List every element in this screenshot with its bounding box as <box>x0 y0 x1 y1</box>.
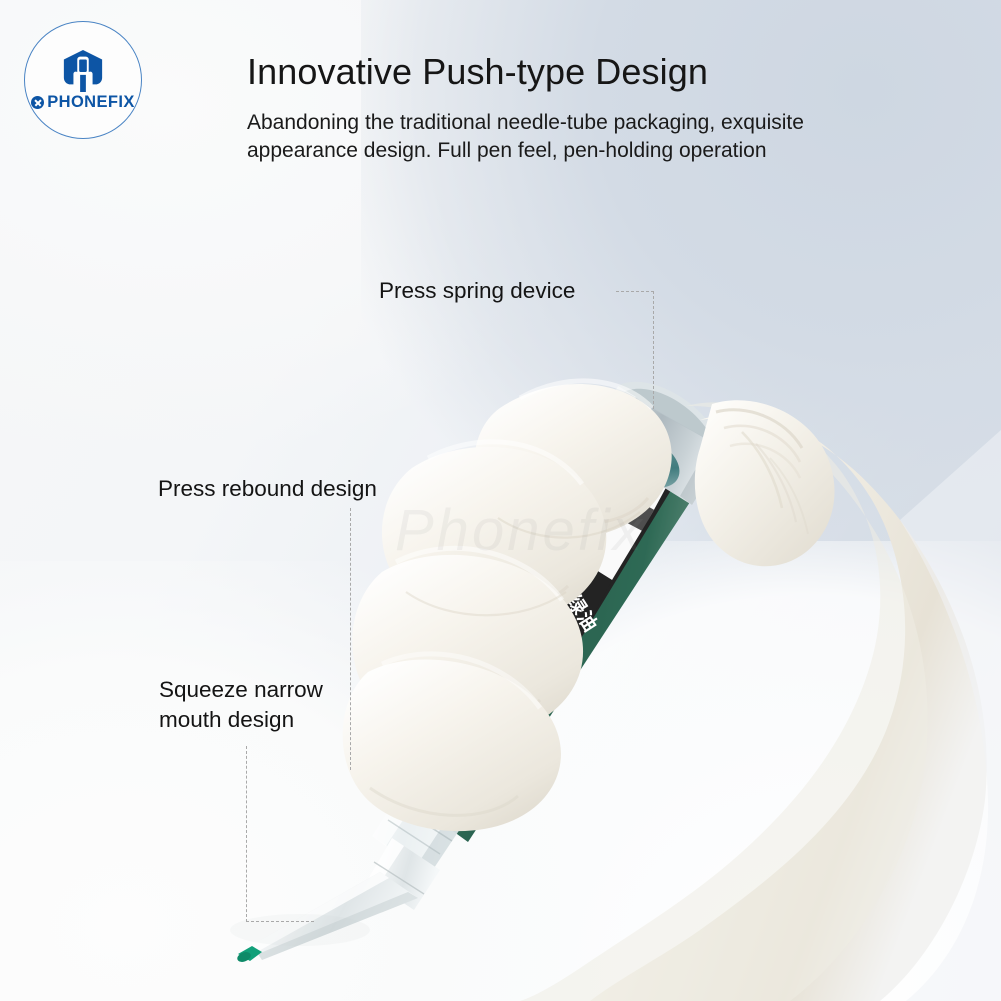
background-glow-bottom-left <box>0 561 560 1001</box>
product-infographic: 绿油 MASK UV UV LIGHT <box>0 0 1001 1001</box>
x-mark-icon <box>31 96 44 109</box>
page-title: Innovative Push-type Design <box>247 51 708 93</box>
phonefix-hexagon-logo-icon <box>60 49 106 93</box>
page-subtitle: Abandoning the traditional needle-tube p… <box>247 109 867 165</box>
callout-squeeze-narrow-mouth-design: Squeeze narrow mouth design <box>159 675 323 735</box>
brand-logo-wordmark-row: PHONEFIX <box>31 94 135 111</box>
brand-name: PHONEFIX <box>47 94 135 111</box>
callout-press-spring-device: Press spring device <box>379 276 575 306</box>
callout-press-rebound-design: Press rebound design <box>158 474 377 504</box>
brand-logo-badge[interactable]: PHONEFIX <box>24 21 142 139</box>
watermark: Phonefix <box>395 497 645 564</box>
